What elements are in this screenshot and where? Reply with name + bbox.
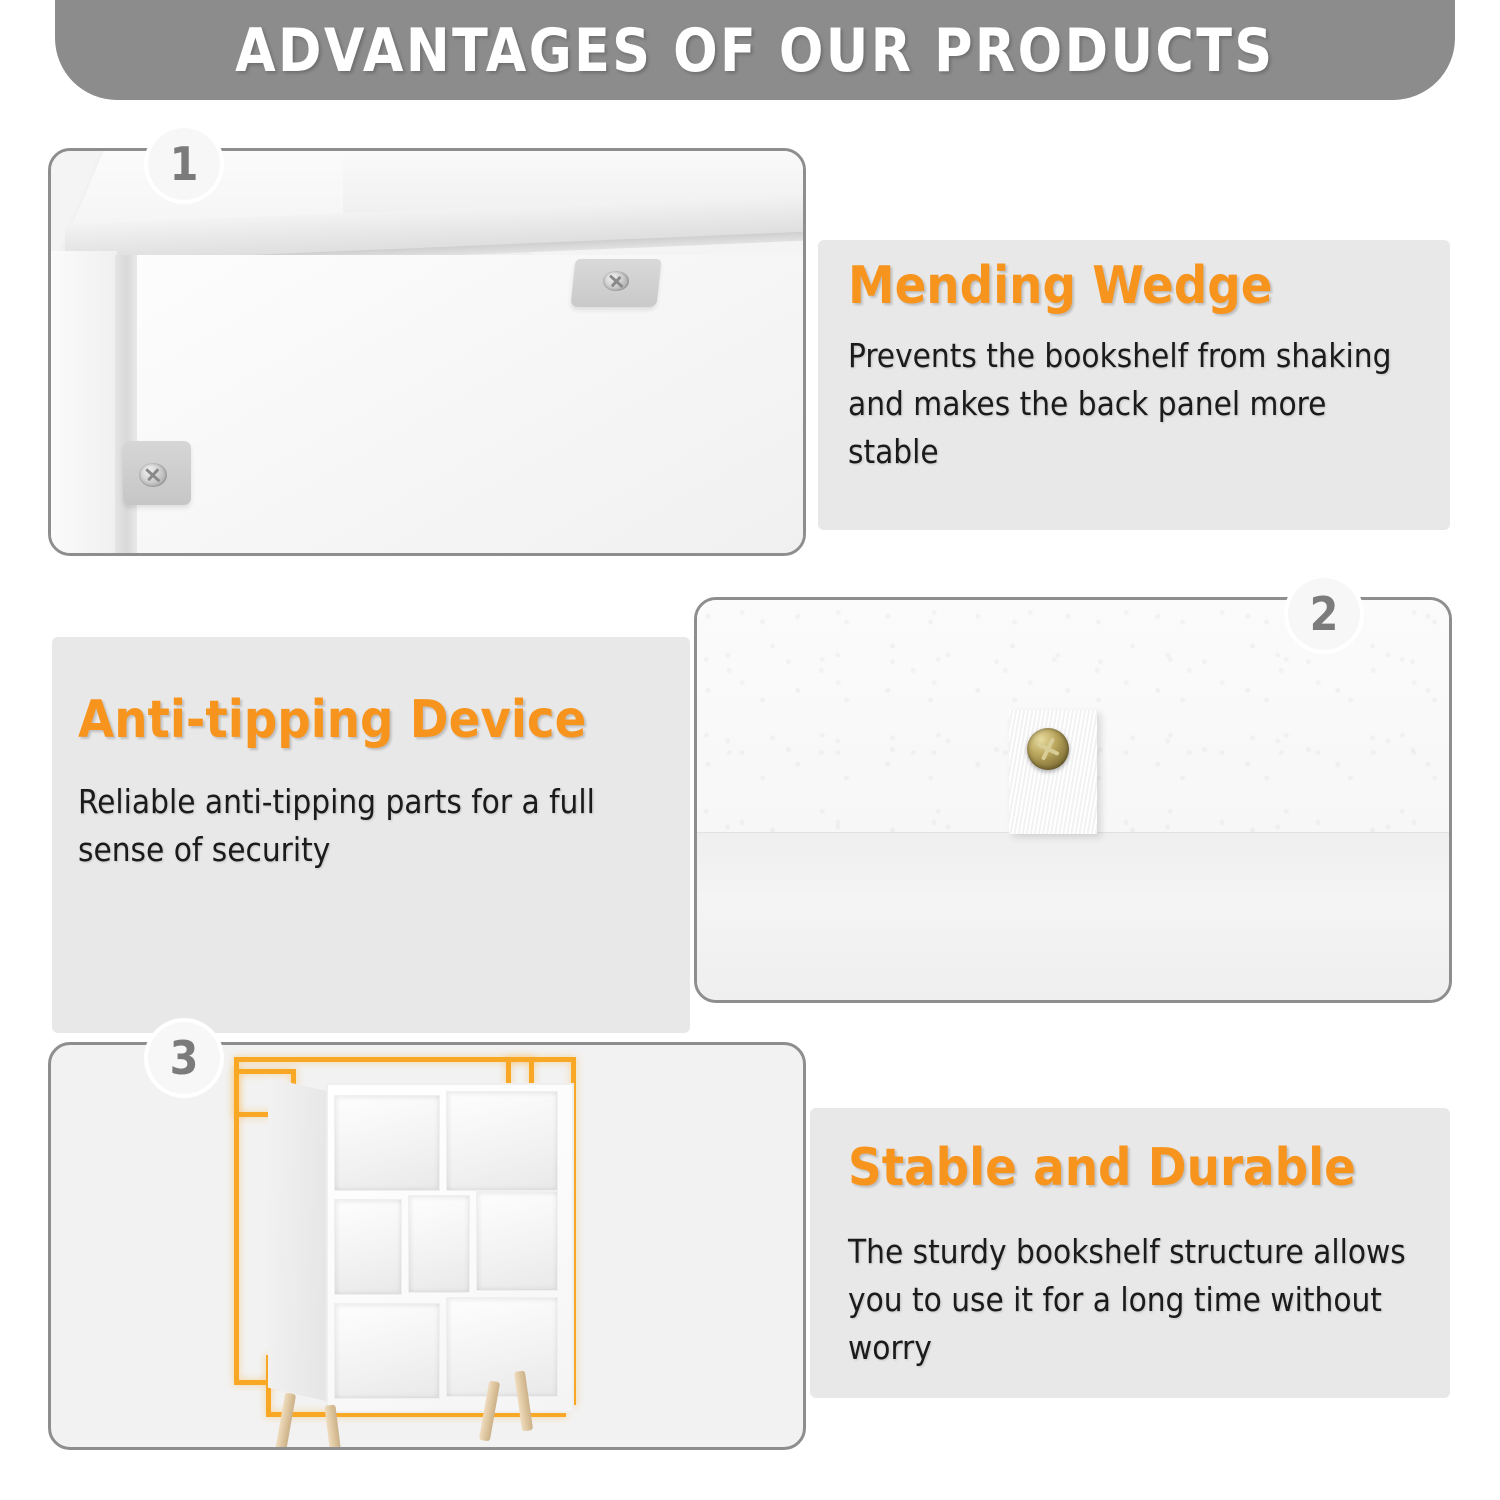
feature-body-2: Reliable anti-tipping parts for a full s… [78, 778, 638, 874]
gold-screw-icon [1027, 728, 1069, 770]
page-title: ADVANTAGES OF OUR PRODUCTS [235, 16, 1274, 86]
feature-title-2: Anti-tipping Device [78, 690, 586, 750]
shelf-leg [275, 1393, 296, 1450]
bookshelf-illustration [256, 1063, 656, 1450]
feature-image-frame-2 [694, 597, 1452, 1003]
baseboard-floor [697, 832, 1449, 1000]
shelf-leg [324, 1405, 342, 1450]
step-badge-3: 3 [148, 1022, 220, 1094]
step-badge-1: 1 [148, 128, 220, 200]
feature-title-1: Mending Wedge [848, 256, 1272, 316]
header-banner: ADVANTAGES OF OUR PRODUCTS [55, 0, 1455, 100]
screw-icon [603, 271, 629, 291]
shelf-left-panel [51, 251, 117, 556]
feature-body-1: Prevents the bookshelf from shaking and … [848, 332, 1408, 476]
shelf-vertical-rail [115, 255, 137, 556]
step-badge-2: 2 [1288, 578, 1360, 650]
screw-icon [139, 463, 167, 487]
shelf-legs [256, 1063, 656, 1450]
feature-body-3: The sturdy bookshelf structure allows yo… [848, 1228, 1428, 1372]
feature-image-frame-3 [48, 1042, 806, 1450]
shelf-leg [479, 1381, 500, 1442]
shelf-back-panel [117, 255, 806, 556]
shelf-leg [514, 1371, 533, 1432]
feature-title-3: Stable and Durable [848, 1138, 1356, 1198]
feature-image-frame-1 [48, 148, 806, 556]
